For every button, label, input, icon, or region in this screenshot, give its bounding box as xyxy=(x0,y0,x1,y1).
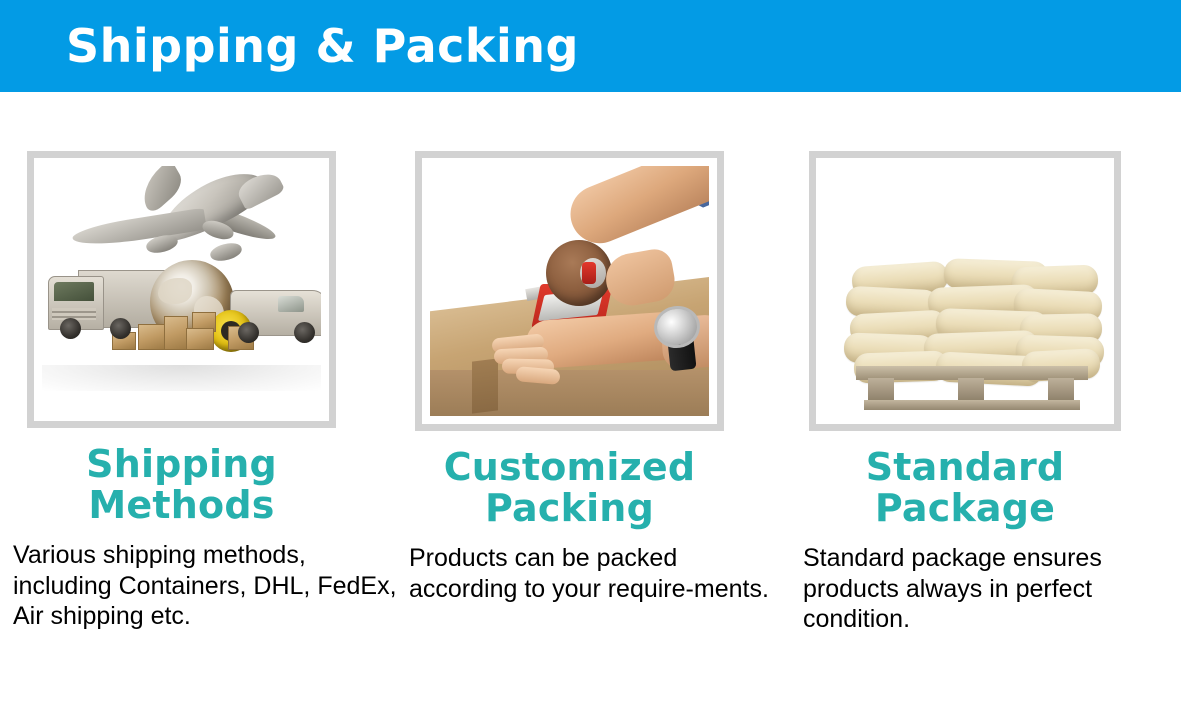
image-frame-shipping-methods xyxy=(27,151,336,428)
van-window-icon xyxy=(278,296,304,312)
carton-box-icon xyxy=(138,324,166,350)
airplane-main-wing-icon xyxy=(71,208,207,251)
standard-package-photo xyxy=(824,166,1106,416)
forearm-icon xyxy=(562,166,709,252)
carton-box-icon xyxy=(164,316,188,350)
pallet-leg-icon xyxy=(868,378,894,402)
ground-shadow xyxy=(42,365,321,391)
page-header-banner: Shipping & Packing xyxy=(0,0,1181,92)
van-wheel-icon xyxy=(238,322,259,343)
feature-column-shipping-methods: Shipping Methods Various shipping method… xyxy=(0,92,401,713)
feature-body-standard-package: Standard package ensures products always… xyxy=(803,543,1181,635)
page-title: Shipping & Packing xyxy=(66,23,579,69)
feature-heading-line-2: Packing xyxy=(415,488,724,529)
carton-box-icon xyxy=(186,328,214,350)
customized-packing-photo xyxy=(430,166,709,416)
van-wheel-icon xyxy=(294,322,315,343)
feature-heading-customized-packing: Customized Packing xyxy=(415,447,724,529)
feature-heading-line-2: Methods xyxy=(27,485,336,526)
feature-heading-line-1: Standard xyxy=(809,447,1121,488)
shipping-methods-photo xyxy=(42,166,321,413)
shipping-packing-page: Shipping & Packing xyxy=(0,0,1181,713)
pallet-leg-icon xyxy=(1048,378,1074,402)
feature-column-standard-package: Standard Package Standard package ensure… xyxy=(801,92,1181,713)
feature-column-customized-packing: Customized Packing Products can be packe… xyxy=(401,92,801,713)
feature-body-shipping-methods: Various shipping methods, including Cont… xyxy=(13,540,403,632)
feature-heading-line-2: Package xyxy=(809,488,1121,529)
cardboard-box-seam xyxy=(472,358,498,413)
feature-body-customized-packing: Products can be packed according to your… xyxy=(409,543,769,604)
airplane-engine-icon xyxy=(209,240,244,263)
dispenser-handle-icon xyxy=(582,262,596,284)
truck-wheel-icon xyxy=(110,318,131,339)
truck-window-icon xyxy=(54,282,94,301)
pallet-base-icon xyxy=(864,400,1080,410)
feature-heading-line-1: Customized xyxy=(415,447,724,488)
feature-heading-shipping-methods: Shipping Methods xyxy=(27,444,336,526)
pallet-leg-icon xyxy=(958,378,984,402)
truck-wheel-icon xyxy=(60,318,81,339)
image-frame-customized-packing xyxy=(415,151,724,431)
feature-columns: Shipping Methods Various shipping method… xyxy=(0,92,1181,713)
feature-heading-standard-package: Standard Package xyxy=(809,447,1121,529)
feature-heading-line-1: Shipping xyxy=(27,444,336,485)
image-frame-standard-package xyxy=(809,151,1121,431)
